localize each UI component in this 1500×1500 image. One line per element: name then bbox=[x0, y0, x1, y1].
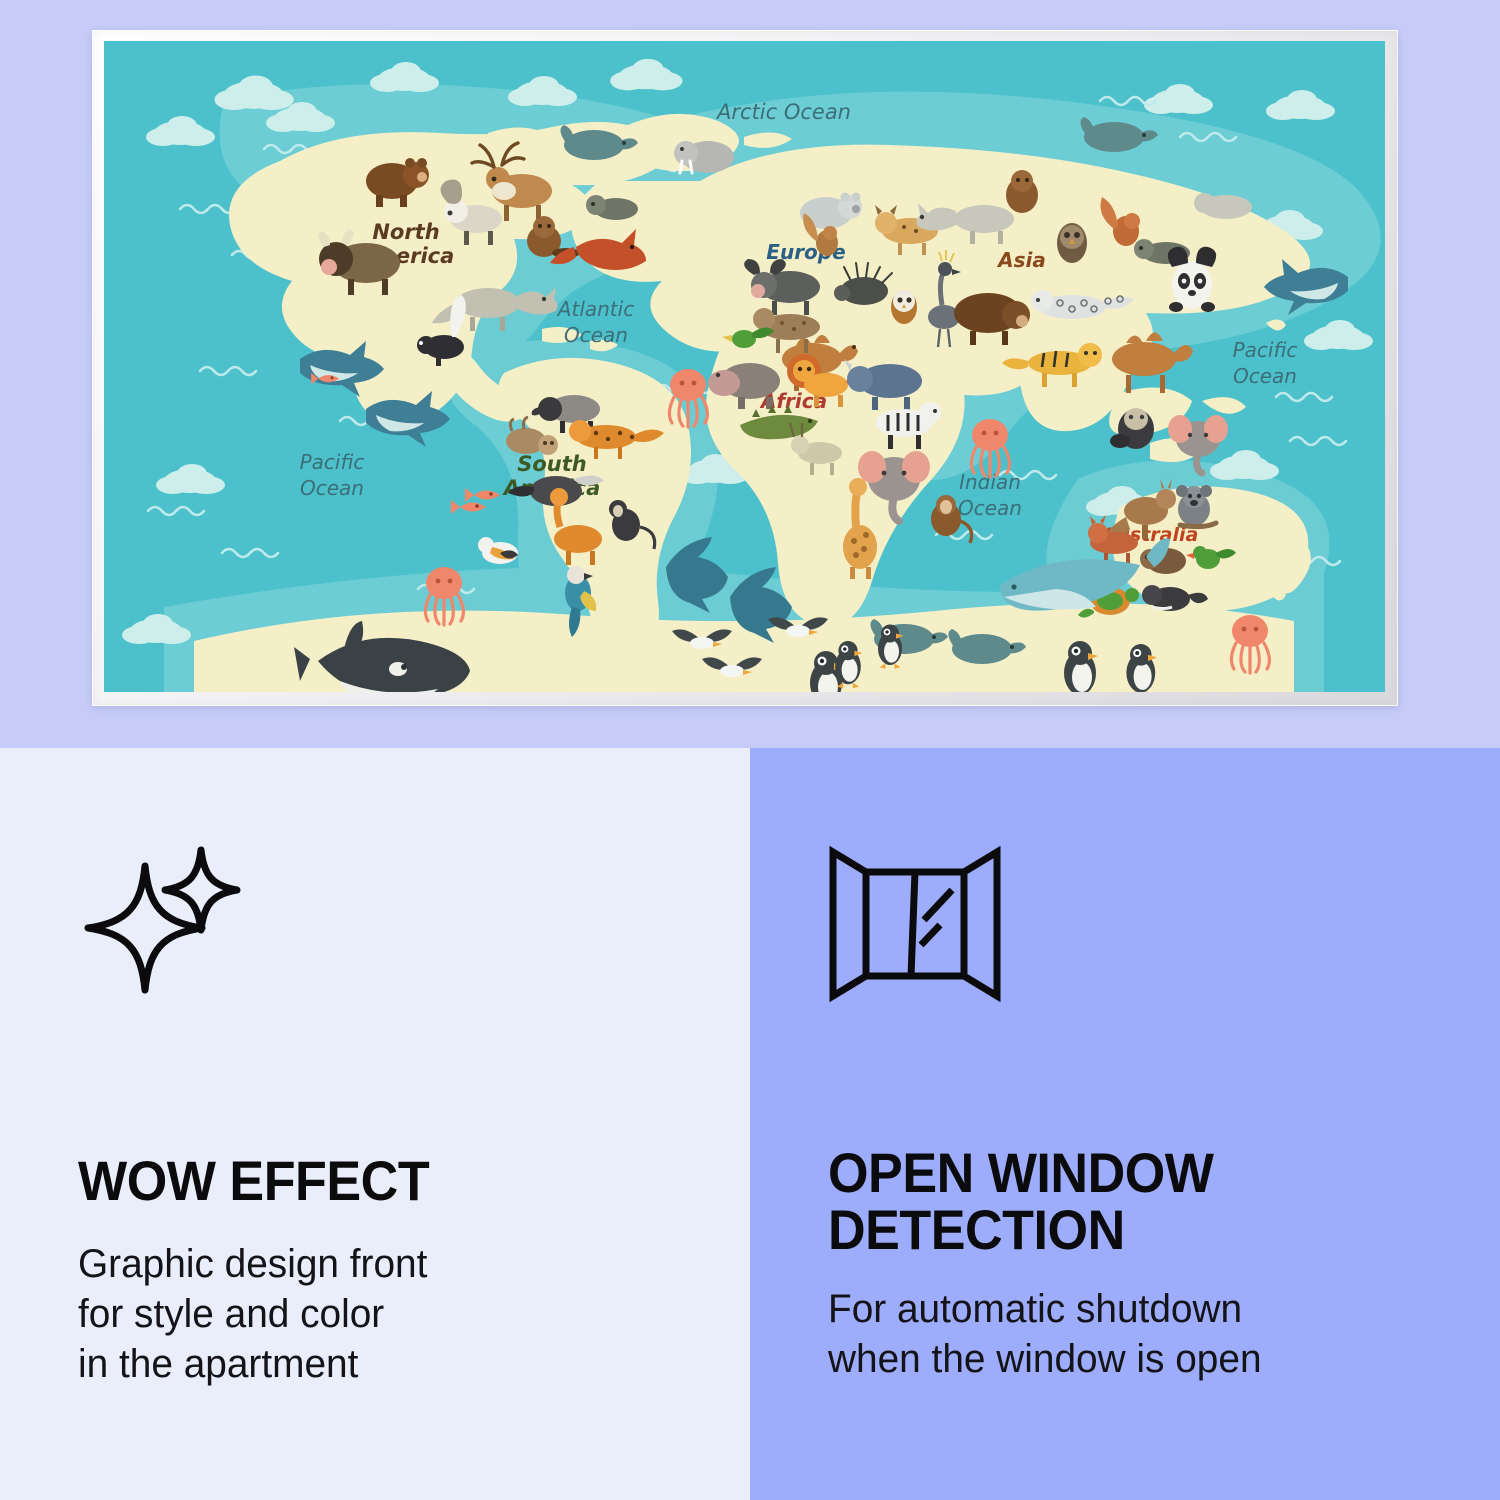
feature-card-open-window-detection: OPEN WINDOW DETECTION For automatic shut… bbox=[750, 748, 1500, 1500]
feature-title: OPEN WINDOW DETECTION bbox=[828, 1144, 1453, 1258]
poster-artwork: NorthAmerica SouthAmerica Europe Asia Af… bbox=[104, 41, 1385, 692]
feature-title: WOW EFFECT bbox=[78, 1152, 703, 1209]
feature-body: For automatic shutdown when the window i… bbox=[828, 1284, 1480, 1384]
map-label-arctic-ocean: Arctic Ocean bbox=[715, 100, 851, 124]
product-feature-page: NorthAmerica SouthAmerica Europe Asia Af… bbox=[0, 0, 1500, 1500]
world-map-illustration: NorthAmerica SouthAmerica Europe Asia Af… bbox=[104, 41, 1385, 692]
feature-card-wow-effect: WOW EFFECT Graphic design front for styl… bbox=[0, 748, 750, 1500]
poster-frame: NorthAmerica SouthAmerica Europe Asia Af… bbox=[92, 30, 1398, 706]
open-window-icon bbox=[828, 844, 1500, 1012]
animal-barn-owl-europe bbox=[891, 290, 917, 324]
map-label-asia: Asia bbox=[996, 248, 1046, 272]
hero-wall: NorthAmerica SouthAmerica Europe Asia Af… bbox=[0, 0, 1500, 748]
sparkle-icon bbox=[78, 844, 750, 1012]
animal-owl-asia bbox=[1057, 223, 1087, 263]
feature-panels: WOW EFFECT Graphic design front for styl… bbox=[0, 748, 1500, 1500]
feature-body: Graphic design front for style and color… bbox=[78, 1239, 730, 1389]
